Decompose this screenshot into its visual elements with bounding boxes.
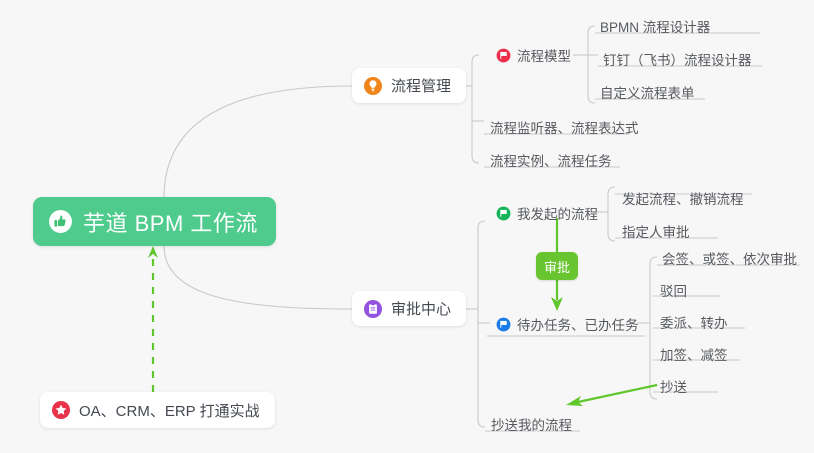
node-label-todo-done-tasks: 待办任务、已办任务 (517, 314, 639, 334)
branch-label-approval-center: 审批中心 (391, 298, 451, 319)
node-dingtalk-feishu-designer[interactable]: 钉钉（飞书）流程设计器 (599, 44, 758, 74)
footer-node-label: OA、CRM、ERP 打通实战 (79, 400, 260, 421)
root-label: 芋道 BPM 工作流 (83, 206, 258, 238)
branch-node-process-management[interactable]: 流程管理 (352, 68, 466, 103)
node-label-process-model: 流程模型 (517, 45, 571, 65)
cc-flow-arrow (566, 385, 657, 406)
node-my-initiated-process[interactable]: 我发起的流程 (492, 198, 604, 228)
node-label-my-initiated-process: 我发起的流程 (517, 203, 598, 223)
node-add-remove-sign[interactable]: 加签、减签 (656, 339, 734, 369)
node-process-listener-expression[interactable]: 流程监听器、流程表达式 (486, 112, 645, 142)
node-label-countersign-or-sequential: 会签、或签、依次审批 (662, 248, 797, 268)
node-cc[interactable]: 抄送 (656, 371, 693, 401)
node-process-instance-task[interactable]: 流程实例、流程任务 (486, 145, 618, 175)
node-cc-to-me-process[interactable]: 抄送我的流程 (487, 409, 578, 439)
node-label-bpmn-designer: BPMN 流程设计器 (600, 16, 710, 36)
node-assignee-approval[interactable]: 指定人审批 (618, 216, 696, 246)
star-icon (51, 400, 71, 420)
node-reject[interactable]: 驳回 (656, 275, 693, 305)
node-label-add-remove-sign: 加签、减签 (660, 344, 728, 364)
node-label-process-instance-task: 流程实例、流程任务 (490, 150, 612, 170)
node-label-start-cancel-process: 发起流程、撤销流程 (622, 188, 744, 208)
node-todo-done-tasks[interactable]: 待办任务、已办任务 (492, 309, 645, 339)
node-bpmn-designer[interactable]: BPMN 流程设计器 (596, 11, 716, 41)
node-custom-process-form[interactable]: 自定义流程表单 (596, 77, 701, 107)
flag-icon (496, 206, 511, 221)
footer-node-integration-practice[interactable]: OA、CRM、ERP 打通实战 (40, 392, 275, 428)
footer-link-arrow (148, 246, 158, 392)
node-label-cc: 抄送 (660, 376, 687, 396)
node-label-delegate-transfer: 委派、转办 (660, 312, 728, 332)
flag-icon (496, 48, 511, 63)
node-label-reject: 驳回 (660, 280, 687, 300)
flag-icon (496, 317, 511, 332)
node-label-assignee-approval: 指定人审批 (622, 221, 690, 241)
node-label-cc-to-me-process: 抄送我的流程 (491, 414, 572, 434)
node-start-cancel-process[interactable]: 发起流程、撤销流程 (618, 183, 750, 213)
branch-node-approval-center[interactable]: 审批中心 (352, 291, 466, 326)
node-countersign-or-sequential[interactable]: 会签、或签、依次审批 (658, 243, 803, 273)
mindmap-canvas: 芋道 BPM 工作流 流程管理 流程模型 BPMN 流程设计器 钉钉（飞书）流 (0, 0, 814, 453)
annotation-badge-label: 审批 (544, 257, 570, 276)
node-delegate-transfer[interactable]: 委派、转办 (656, 307, 734, 337)
node-label-dingtalk-feishu-designer: 钉钉（飞书）流程设计器 (603, 49, 752, 69)
node-process-model[interactable]: 流程模型 (492, 40, 577, 70)
root-node[interactable]: 芋道 BPM 工作流 (33, 197, 276, 246)
branch-label-process-management: 流程管理 (391, 75, 451, 96)
lightbulb-icon (363, 76, 383, 96)
node-label-process-listener-expression: 流程监听器、流程表达式 (490, 117, 639, 137)
annotation-badge-approval: 审批 (536, 252, 578, 280)
node-label-custom-process-form: 自定义流程表单 (600, 82, 695, 102)
clipboard-icon (363, 299, 383, 319)
thumbs-up-icon (48, 209, 73, 234)
